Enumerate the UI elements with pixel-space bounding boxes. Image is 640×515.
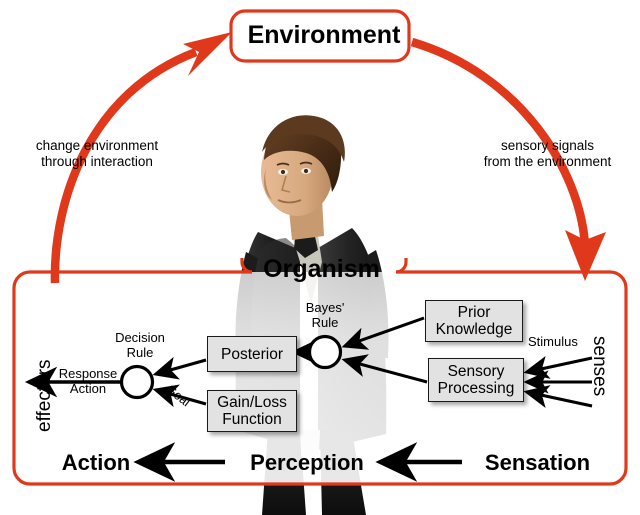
decision-rule-caption: Decision Rule bbox=[100, 330, 180, 360]
decision-rule-caption-line2: Rule bbox=[100, 345, 180, 360]
gain-loss-label-line1: Gain/Loss bbox=[217, 394, 287, 411]
posterior-label: Posterior bbox=[221, 346, 283, 363]
sensory-processing-label-line2: Processing bbox=[438, 380, 515, 397]
prior-knowledge-box[interactable]: Prior Knowledge bbox=[425, 300, 523, 342]
action-edge-label: Action bbox=[52, 381, 124, 396]
arc-right-label-line1: sensory signals bbox=[460, 138, 635, 154]
sensory-processing-box[interactable]: Sensory Processing bbox=[428, 358, 524, 402]
bayes-rule-caption-line2: Rule bbox=[288, 315, 362, 330]
arc-left-label-line2: through interaction bbox=[12, 154, 182, 170]
arc-right-label: sensory signals from the environment bbox=[460, 138, 635, 170]
decision-rule-caption-line1: Decision bbox=[100, 330, 180, 345]
action-word: Action bbox=[46, 450, 146, 476]
prior-knowledge-label-line2: Knowledge bbox=[436, 321, 513, 338]
stimulus-label: Stimulus bbox=[528, 334, 600, 349]
organism-label: Organism bbox=[249, 255, 394, 284]
bayes-rule-caption-line1: Bayes' bbox=[288, 300, 362, 315]
edge-stimulus-lower bbox=[527, 392, 592, 406]
arc-left-label: change environment through interaction bbox=[12, 138, 182, 170]
prior-knowledge-label-line1: Prior bbox=[458, 304, 491, 321]
edge-stimulus-upper bbox=[527, 358, 592, 372]
gain-loss-label-line2: Function bbox=[222, 411, 281, 428]
response-label: Response bbox=[52, 366, 124, 381]
arc-right-label-line2: from the environment bbox=[460, 154, 635, 170]
sensation-word: Sensation bbox=[470, 450, 605, 476]
edge-sensory-to-bayes bbox=[345, 360, 427, 382]
response-action-label: Response Action bbox=[52, 366, 124, 396]
diagram-canvas: Environment Organism change environment … bbox=[0, 0, 640, 515]
bayes-rule-caption: Bayes' Rule bbox=[288, 300, 362, 330]
environment-label: Environment bbox=[244, 21, 404, 50]
sensory-processing-label-line1: Sensory bbox=[448, 363, 505, 380]
decision-rule-node bbox=[122, 367, 153, 398]
arc-left-label-line1: change environment bbox=[12, 138, 182, 154]
edge-posterior-to-decision bbox=[156, 360, 206, 374]
perception-word: Perception bbox=[233, 450, 381, 476]
gain-loss-function-box[interactable]: Gain/Loss Function bbox=[207, 390, 297, 432]
posterior-box[interactable]: Posterior bbox=[207, 336, 297, 372]
bayes-rule-node bbox=[310, 337, 341, 368]
